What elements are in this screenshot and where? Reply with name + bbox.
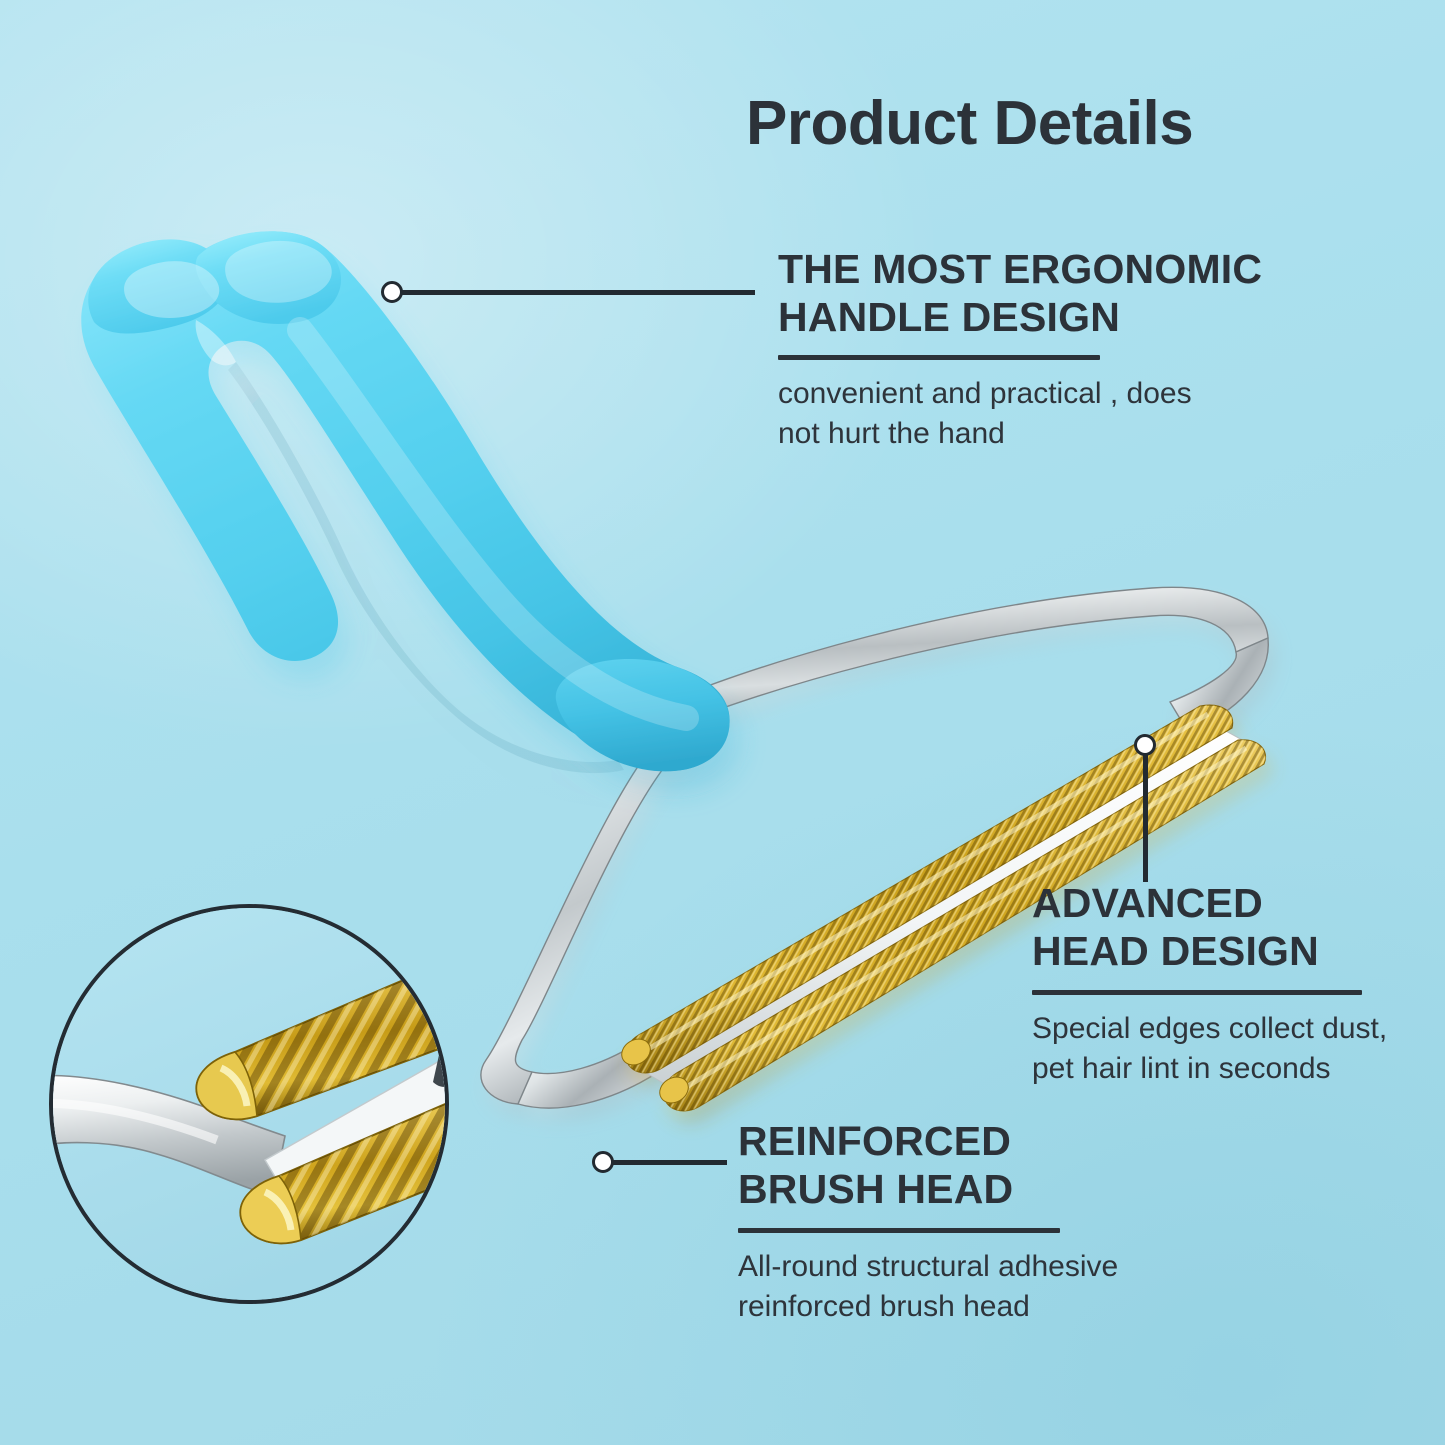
callout-ergonomic-handle: THE MOST ERGONOMIC HANDLE DESIGN conveni…	[778, 246, 1378, 453]
leader-line-advanced-head	[1143, 752, 1148, 882]
leader-dot-advanced-head	[1134, 734, 1156, 756]
product-illustration	[0, 0, 1445, 1445]
callout-rule-brush-head	[738, 1228, 1060, 1233]
leader-line-brush-head	[612, 1160, 727, 1165]
callout-heading-advanced-head: ADVANCED HEAD DESIGN	[1032, 880, 1445, 975]
callout-body-brush-head: All-round structural adhesive reinforced…	[738, 1247, 1208, 1326]
callout-body-ergonomic-handle: convenient and practical , does not hurt…	[778, 374, 1378, 453]
callout-reinforced-brush-head: REINFORCED BRUSH HEAD All-round structur…	[738, 1118, 1208, 1326]
magnified-brush-tip-inset	[49, 904, 449, 1304]
leader-line-handle	[400, 290, 755, 295]
callout-heading-ergonomic-handle: THE MOST ERGONOMIC HANDLE DESIGN	[778, 246, 1378, 341]
leader-dot-brush-head	[592, 1151, 614, 1173]
callout-advanced-head: ADVANCED HEAD DESIGN Special edges colle…	[1032, 880, 1445, 1088]
leader-dot-handle	[381, 281, 403, 303]
product-details-infographic: Product Details THE MOST ERGONOMIC HANDL…	[0, 0, 1445, 1445]
callout-rule-advanced-head	[1032, 990, 1362, 995]
callout-heading-brush-head: REINFORCED BRUSH HEAD	[738, 1118, 1208, 1213]
callout-body-advanced-head: Special edges collect dust, pet hair lin…	[1032, 1009, 1445, 1088]
page-title: Product Details	[746, 88, 1193, 159]
callout-rule-ergonomic-handle	[778, 355, 1100, 360]
